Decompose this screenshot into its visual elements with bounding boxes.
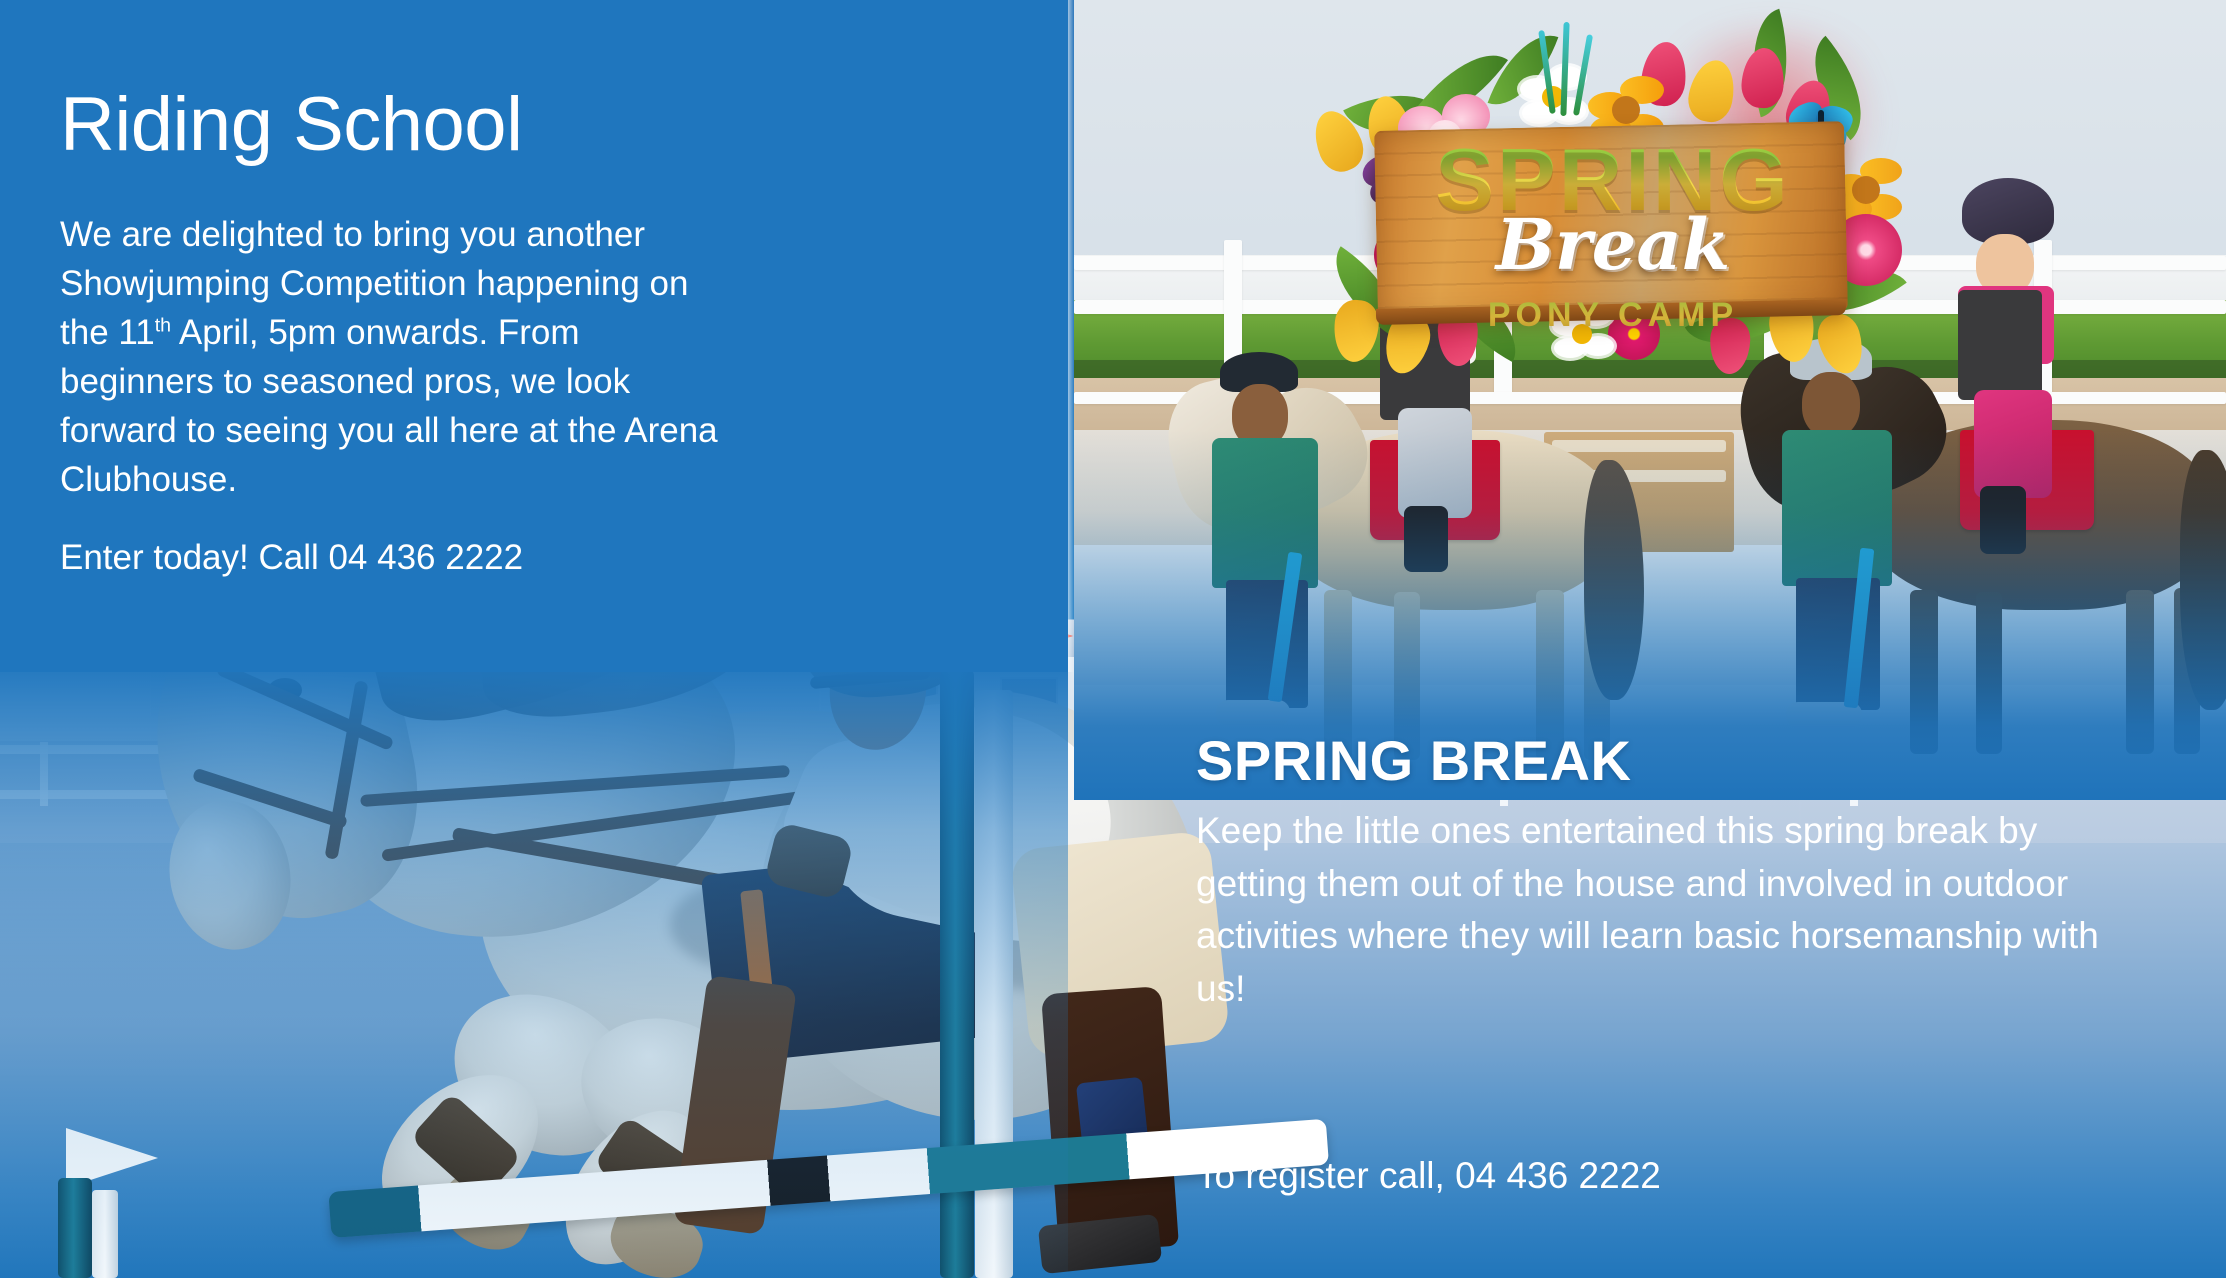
page-title: Riding School [60, 87, 522, 163]
spring-break-description: Keep the little ones entertained this sp… [1196, 805, 2116, 1015]
sb-line-1: Keep the little ones entertained this sp… [1196, 810, 1885, 851]
desc-day-number: 11 [118, 313, 154, 352]
logo-pony-camp-text: PONY CAMP [1388, 296, 1838, 335]
spring-break-pony-camp-logo: SPRING Break PONY CAMP [1290, 18, 1940, 348]
poster-canvas: SPRING Break PONY CAMP Riding School We … [0, 0, 2226, 1278]
riding-school-cta[interactable]: Enter today! Call 04 436 2222 [60, 538, 523, 578]
spring-break-heading: SPRING BREAK [1196, 728, 1631, 793]
left-panel-edge-highlight [1068, 0, 1074, 672]
logo-break-text: Break [1388, 210, 1838, 280]
spring-break-cta[interactable]: To register call, 04 436 2222 [1196, 1155, 1661, 1197]
desc-day-suffix: th [155, 314, 171, 336]
desc-line-1: We are delighted to bring you another [60, 215, 645, 254]
riding-school-description: We are delighted to bring you another Sh… [60, 210, 740, 504]
left-panel-gradient-overlay [0, 672, 1068, 1278]
